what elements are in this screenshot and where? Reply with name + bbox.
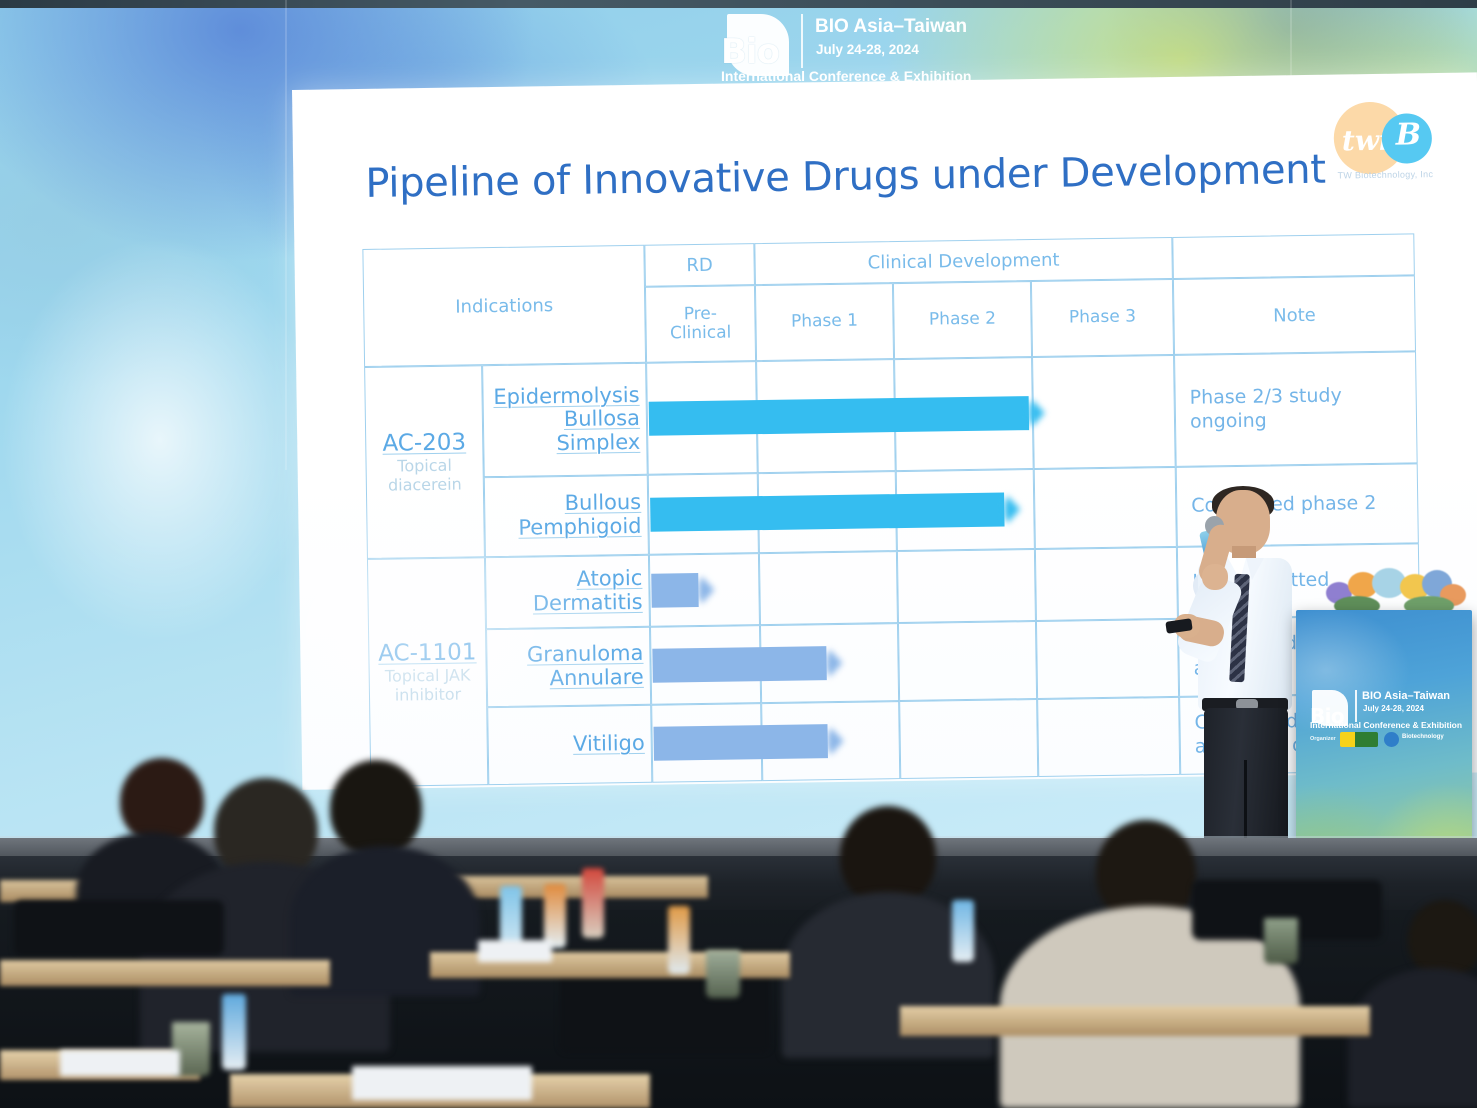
- water-bottle: [222, 994, 246, 1070]
- notepad: [352, 1066, 532, 1100]
- audience-head: [120, 758, 204, 844]
- chair: [14, 900, 224, 956]
- water-bottle: [952, 900, 974, 962]
- audience-foreground: [0, 0, 1477, 1108]
- water-bottle: [582, 868, 604, 938]
- coffee-cup: [1264, 918, 1298, 964]
- audience-head: [840, 806, 936, 906]
- notepad: [60, 1050, 180, 1076]
- water-bottle: [500, 886, 522, 948]
- desk: [900, 1006, 1370, 1036]
- water-bottle: [668, 906, 690, 974]
- audience-head: [330, 760, 422, 856]
- desk: [0, 960, 330, 986]
- conference-room-scene: Bio BIO Asia–Taiwan July 24-28, 2024 Int…: [0, 0, 1477, 1108]
- notepad: [478, 940, 552, 962]
- audience-head: [1408, 900, 1477, 978]
- coffee-cup: [706, 950, 740, 998]
- audience-body: [1348, 968, 1477, 1108]
- water-bottle: [544, 884, 566, 948]
